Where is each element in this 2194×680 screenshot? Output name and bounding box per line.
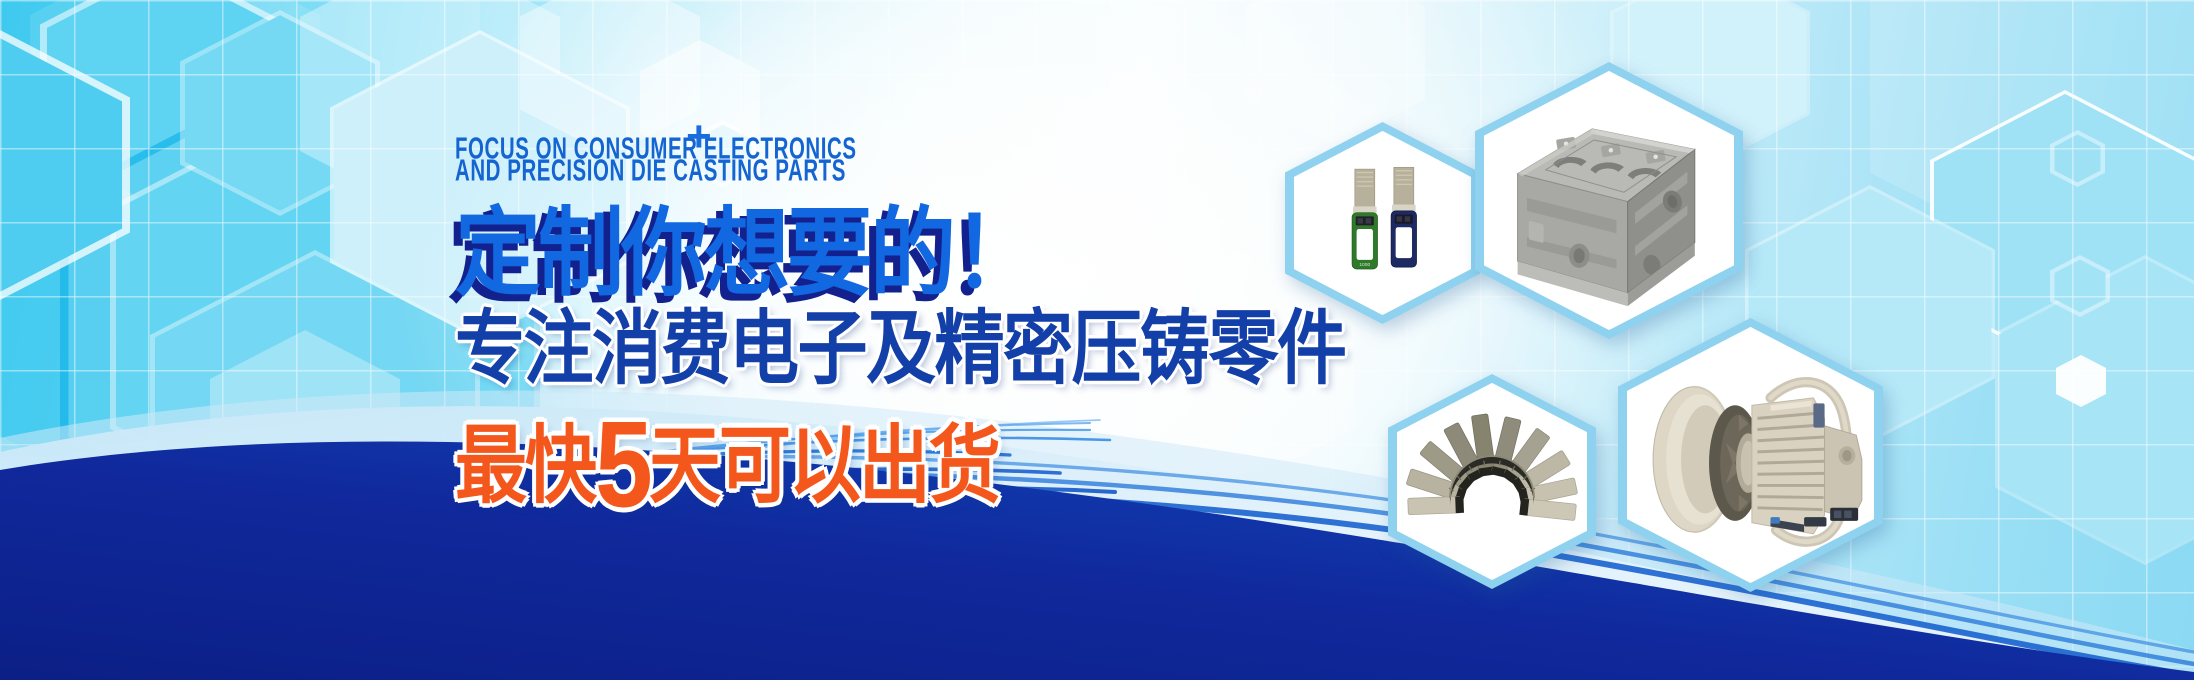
headline-tertiary-fill: 最快5天可以出货 (455, 404, 999, 527)
product-hex-die-cast-connector-fan[interactable] (1388, 374, 1596, 589)
product-hex-aluminum-engine-block[interactable] (1475, 62, 1743, 339)
headline-secondary-fill: 专注消费电子及精密压铸零件 (455, 308, 1346, 389)
lead-time-number: 5 (595, 397, 649, 534)
svg-text:1000: 1000 (1359, 262, 1370, 268)
headline-primary-fill: 定制你想要的！ (455, 206, 1036, 302)
product-hex-motor-compressor-housing[interactable] (1618, 318, 1883, 592)
lead-time-suffix: 天可以出货 (649, 419, 999, 513)
promo-banner: FOCUS ON CONSUMER ELECTRONICS AND PRECIS… (0, 0, 2194, 680)
lead-time-prefix: 最快 (455, 419, 595, 513)
headline-tertiary: 最快5天可以出货 (455, 404, 1455, 494)
product-hex-optical-transceiver-modules[interactable]: 1000 (1285, 122, 1480, 324)
plus-icon: + (686, 115, 712, 159)
eyebrow-line-2: AND PRECISION DIE CASTING PARTS (455, 150, 846, 192)
